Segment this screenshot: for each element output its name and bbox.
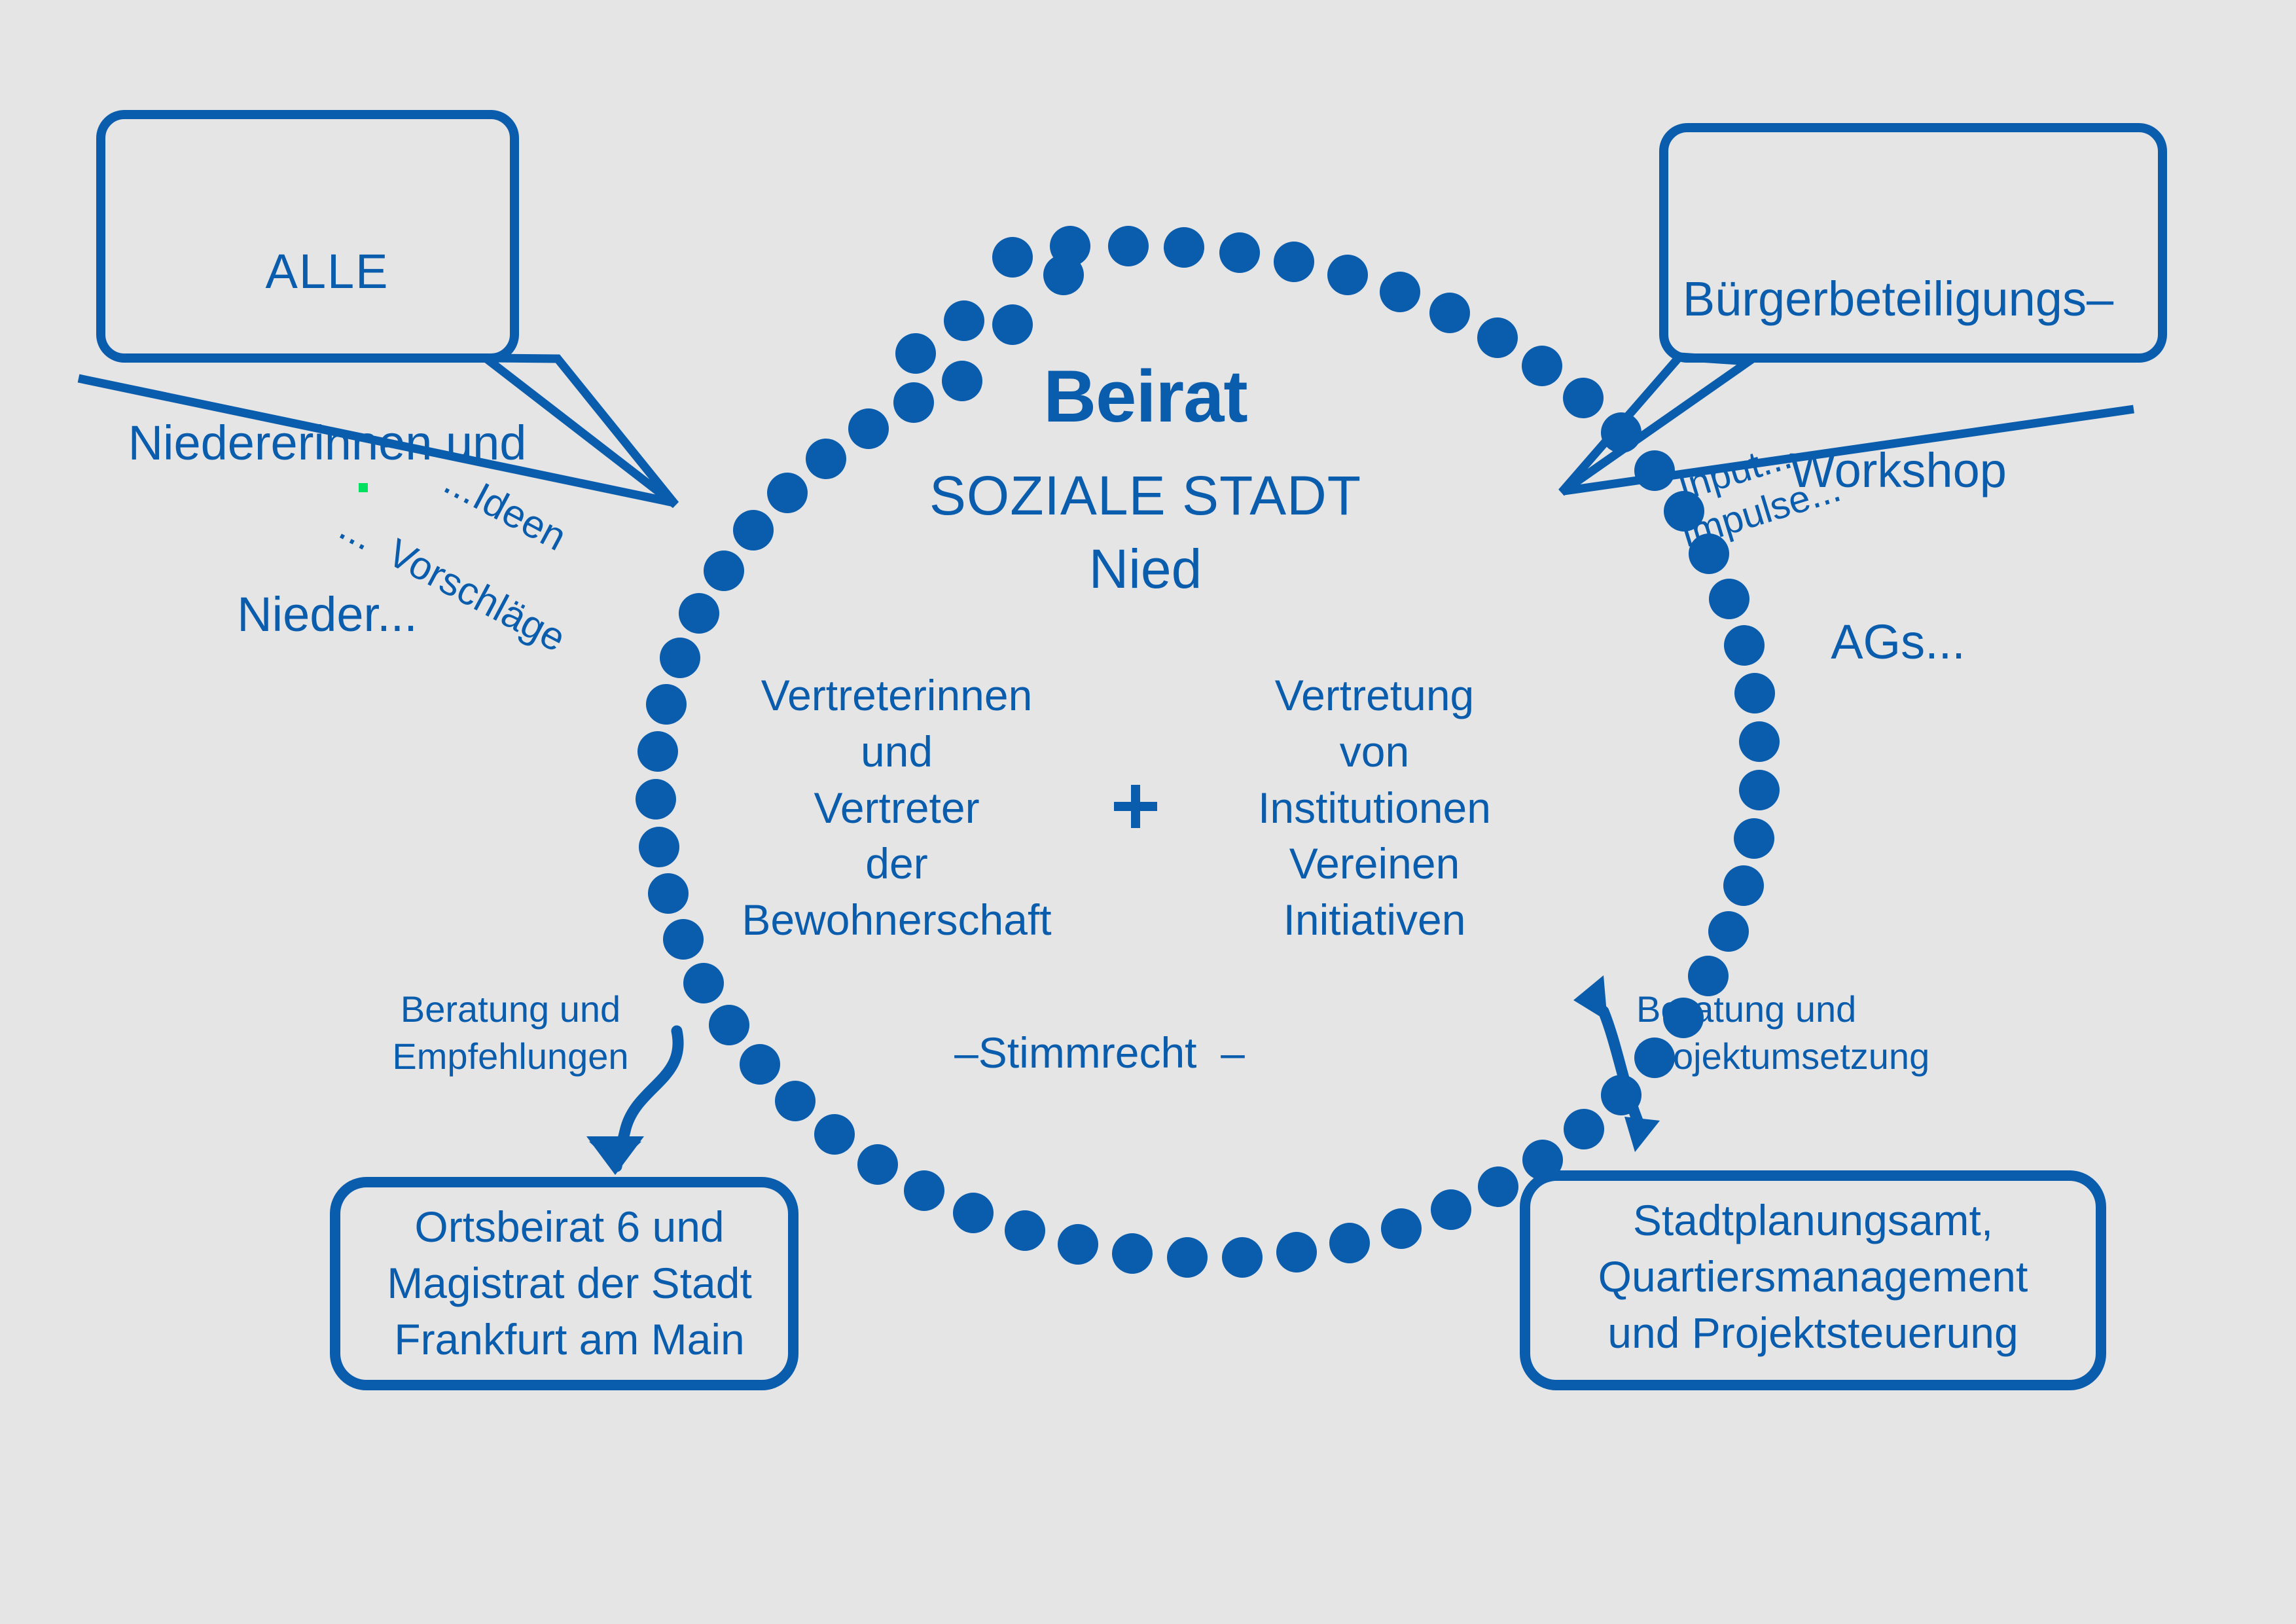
plus-icon [1114,785,1157,828]
center-footnote-stimmrecht: –Stimmrecht – [910,1028,1289,1079]
arrowhead-up-left [1573,975,1607,1021]
arrowhead-down-right [1624,1117,1660,1152]
bubble-line-2: Niedererinnen und [92,414,563,471]
box-text-stadtplanungsamt: Stadtplanungsamt, Quartiersmanagement un… [1532,1193,2094,1361]
diagram-canvas: ALLE Niedererinnen und Nieder... Bürgerb… [0,0,2296,1624]
bubble-line-1: Bürgerbeteiligungs– [1662,270,2134,327]
bubble-text-buergerinnen: ALLE Niedererinnen und Nieder... [92,128,563,757]
arrowhead-down-left [586,1136,644,1175]
bubble-line-3: AGs... [1662,613,2134,670]
green-marker-icon [359,483,368,492]
box-text-ortsbeirat: Ortsbeirat 6 und Magistrat der Stadt Fra… [340,1199,798,1367]
center-right-column: Vertretung von Institutionen Vereinen In… [1172,668,1577,948]
center-subtitle-line1: SOZIALE STADT [720,463,1571,528]
label-beratung-empfehlungen: Beratung und Empfehlungen [340,986,681,1079]
center-title: Beirat [720,353,1571,440]
bubble-line-1: ALLE [92,243,563,300]
label-beratung-projektumsetzung: Beratung und Projektumsetzung [1636,986,2003,1079]
center-subtitle-line2: Nied [720,537,1571,602]
center-left-column: Vertreterinnen und Vertreter der Bewohne… [694,668,1100,948]
